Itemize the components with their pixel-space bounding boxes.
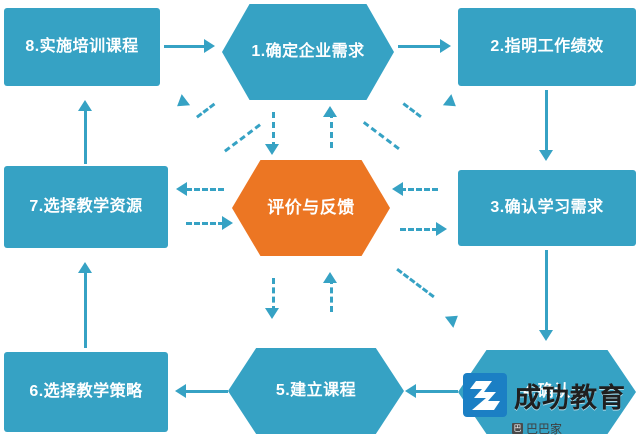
node-2-specify-job-performance[interactable]: 2.指明工作绩效	[458, 8, 636, 86]
watermark-badge-icon: 巴	[512, 423, 523, 434]
node-5-build-curriculum[interactable]: 5.建立课程	[228, 348, 404, 434]
node-1-label: 1.确定企业需求	[245, 41, 370, 63]
watermark-tag: 巴 巴巴家	[512, 420, 562, 437]
node-3-confirm-learning-needs[interactable]: 3.确认学习需求	[458, 170, 636, 246]
node-8-label: 8.实施培训课程	[19, 36, 144, 58]
node-center-evaluation-feedback[interactable]: 评价与反馈	[232, 160, 390, 256]
node-1-identify-enterprise-needs[interactable]: 1.确定企业需求	[222, 4, 394, 100]
node-7-select-teaching-resources[interactable]: 7.选择教学资源	[4, 166, 168, 248]
node-7-label: 7.选择教学资源	[23, 196, 148, 218]
node-8-implement-training[interactable]: 8.实施培训课程	[4, 8, 160, 86]
node-5-label: 5.建立课程	[270, 380, 362, 402]
node-3-label: 3.确认学习需求	[484, 197, 609, 219]
node-2-label: 2.指明工作绩效	[484, 36, 609, 58]
watermark-tag-label: 巴巴家	[526, 420, 562, 437]
node-center-label: 评价与反馈	[261, 197, 361, 220]
node-6-select-teaching-strategy[interactable]: 6.选择教学策略	[4, 352, 168, 432]
watermark: 成功教育	[462, 372, 626, 418]
node-6-label: 6.选择教学策略	[23, 381, 148, 403]
flowchart-canvas: 8.实施培训课程 1.确定企业需求 2.指明工作绩效 7.选择教学资源 评价与反…	[0, 0, 640, 439]
brand-logo-icon	[462, 372, 508, 418]
brand-name: 成功教育	[514, 376, 626, 415]
